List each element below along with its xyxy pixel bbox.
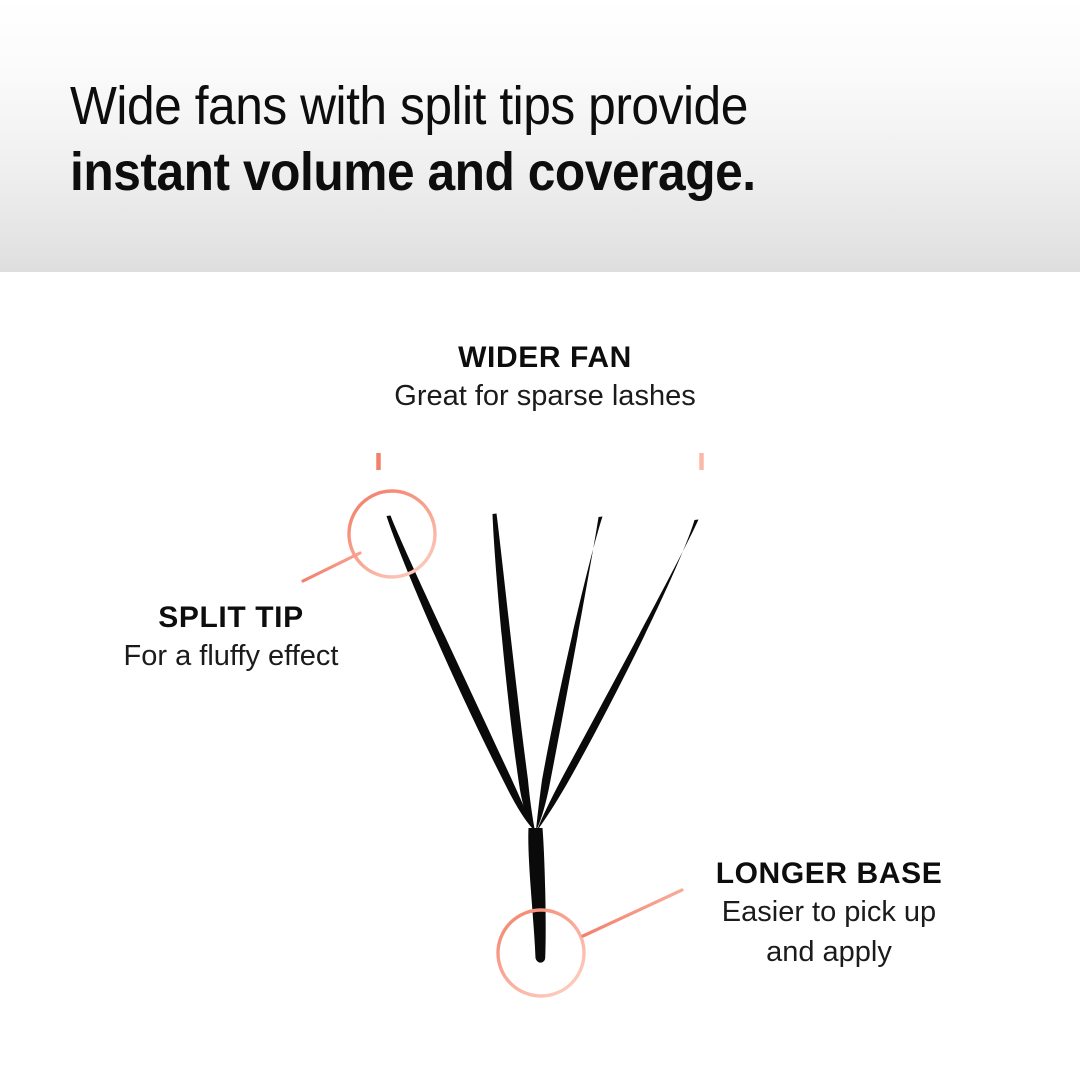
callout-longer-base: LONGER BASE Easier to pick up and apply bbox=[629, 856, 1029, 972]
callout-split-tip-title: SPLIT TIP bbox=[31, 600, 431, 636]
callout-split-tip: SPLIT TIP For a fluffy effect bbox=[31, 600, 431, 676]
split-tip-marker bbox=[303, 491, 435, 581]
callout-split-tip-subtitle: For a fluffy effect bbox=[31, 636, 431, 676]
infographic-canvas: Wide fans with split tips provide instan… bbox=[0, 0, 1080, 1080]
lash-base-stem bbox=[528, 828, 545, 963]
callout-wider-fan-title: WIDER FAN bbox=[245, 340, 845, 376]
callout-longer-base-subtitle-line-1: Easier to pick up bbox=[629, 892, 1029, 932]
callout-wider-fan-subtitle: Great for sparse lashes bbox=[245, 376, 845, 416]
callout-longer-base-subtitle-line-2: and apply bbox=[629, 932, 1029, 972]
measure-bar-icon bbox=[377, 453, 703, 470]
callout-wider-fan: WIDER FAN Great for sparse lashes bbox=[245, 340, 845, 416]
lash-fan-strands bbox=[387, 514, 699, 832]
callout-longer-base-subtitle: Easier to pick up and apply bbox=[629, 892, 1029, 972]
callout-longer-base-title: LONGER BASE bbox=[629, 856, 1029, 892]
